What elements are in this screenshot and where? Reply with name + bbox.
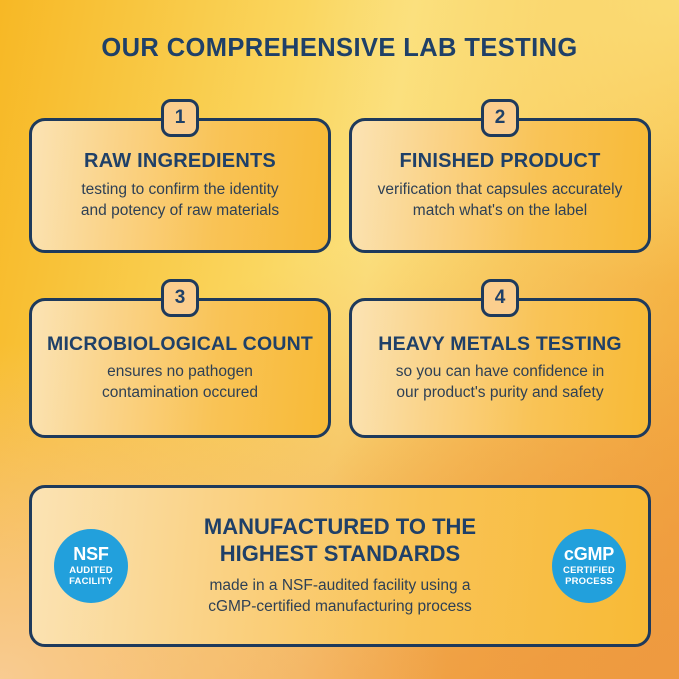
lab-test-card-raw-ingredients: 1 RAW INGREDIENTS testing to confirm the… bbox=[29, 118, 331, 253]
card-description-raw-ingredients: testing to confirm the identity and pote… bbox=[81, 180, 279, 221]
nsf-seal-subtitle-2: FACILITY bbox=[69, 577, 113, 587]
cgmp-seal-title: cGMP bbox=[564, 545, 614, 564]
card-title-finished-product: FINISHED PRODUCT bbox=[400, 150, 601, 173]
lab-testing-infographic: OUR COMPREHENSIVE LAB TESTING 1 RAW INGR… bbox=[0, 0, 679, 679]
step-number-badge-2: 2 bbox=[481, 99, 519, 137]
manufactured-title-line-1: MANUFACTURED TO THE bbox=[204, 514, 476, 540]
cgmp-seal-subtitle-2: PROCESS bbox=[565, 577, 613, 587]
page-title: OUR COMPREHENSIVE LAB TESTING bbox=[0, 34, 679, 63]
card-title-heavy-metals-testing: HEAVY METALS TESTING bbox=[378, 333, 621, 355]
card-description-microbiological-count: ensures no pathogen contamination occure… bbox=[102, 362, 258, 403]
manufactured-title: MANUFACTURED TO THE HIGHEST STANDARDS bbox=[204, 514, 476, 567]
manufactured-title-line-2: HIGHEST STANDARDS bbox=[204, 541, 476, 567]
card-desc-line-2: our product's purity and safety bbox=[396, 383, 605, 404]
step-number-badge-1: 1 bbox=[161, 99, 199, 137]
card-desc-line-1: ensures no pathogen bbox=[102, 362, 258, 383]
step-number-badge-4: 4 bbox=[481, 279, 519, 317]
card-desc-line-2: and potency of raw materials bbox=[81, 201, 279, 222]
card-desc-line-1: verification that capsules accurately bbox=[378, 180, 623, 201]
card-title-microbiological-count: MICROBIOLOGICAL COUNT bbox=[47, 333, 313, 355]
card-desc-line-1: so you can have confidence in bbox=[396, 362, 605, 383]
card-title-raw-ingredients: RAW INGREDIENTS bbox=[84, 150, 276, 173]
lab-test-card-finished-product: 2 FINISHED PRODUCT verification that cap… bbox=[349, 118, 651, 253]
cgmp-certified-process-seal: cGMP CERTIFIED PROCESS bbox=[552, 529, 626, 603]
manufactured-desc-line-2: cGMP-certified manufacturing process bbox=[208, 596, 472, 617]
manufactured-description: made in a NSF-audited facility using a c… bbox=[208, 575, 472, 618]
card-desc-line-2: match what's on the label bbox=[378, 201, 623, 222]
manufactured-text-block: MANUFACTURED TO THE HIGHEST STANDARDS ma… bbox=[128, 514, 552, 618]
nsf-audited-facility-seal: NSF AUDITED FACILITY bbox=[54, 529, 128, 603]
lab-test-card-heavy-metals-testing: 4 HEAVY METALS TESTING so you can have c… bbox=[349, 298, 651, 438]
card-description-finished-product: verification that capsules accurately ma… bbox=[378, 180, 623, 221]
card-description-heavy-metals-testing: so you can have confidence in our produc… bbox=[396, 362, 605, 403]
card-desc-line-2: contamination occured bbox=[102, 383, 258, 404]
card-desc-line-1: testing to confirm the identity bbox=[81, 180, 279, 201]
manufactured-standards-card: NSF AUDITED FACILITY MANUFACTURED TO THE… bbox=[29, 485, 651, 647]
step-number-badge-3: 3 bbox=[161, 279, 199, 317]
nsf-seal-title: NSF bbox=[73, 545, 108, 564]
manufactured-desc-line-1: made in a NSF-audited facility using a bbox=[208, 575, 472, 596]
lab-test-card-microbiological-count: 3 MICROBIOLOGICAL COUNT ensures no patho… bbox=[29, 298, 331, 438]
